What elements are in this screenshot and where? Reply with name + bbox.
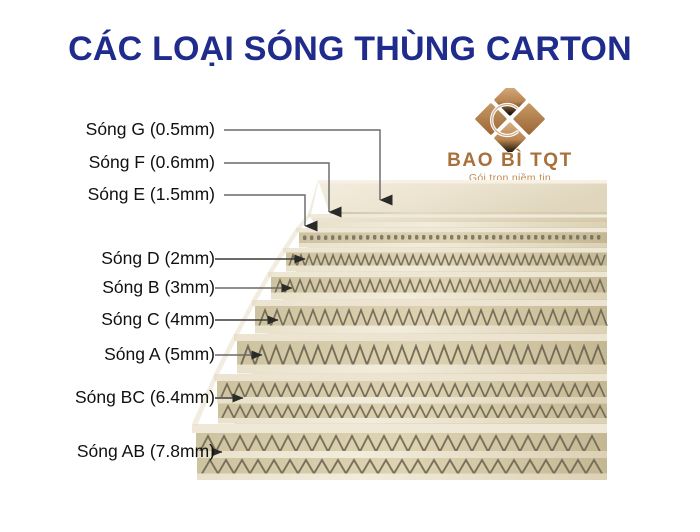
leader-e	[224, 195, 305, 226]
infographic-canvas: CÁC LOẠI SÓNG THÙNG CARTON	[0, 0, 700, 532]
label-song-g: Sóng G (0.5mm)	[86, 121, 215, 139]
label-song-c: Sóng C (4mm)	[101, 311, 215, 329]
label-song-ab: Sóng AB (7.8mm)	[77, 443, 215, 461]
sheet-b	[268, 272, 607, 300]
label-song-d: Sóng D (2mm)	[101, 250, 215, 268]
sheet-bc	[214, 374, 607, 424]
label-song-bc: Sóng BC (6.4mm)	[75, 389, 215, 407]
sheet-g	[318, 180, 607, 216]
label-song-a: Sóng A (5mm)	[104, 346, 215, 364]
sheet-d	[283, 248, 607, 272]
sheet-a	[234, 334, 607, 374]
sheet-f	[308, 214, 607, 228]
cardboard-sheet-stack	[192, 180, 607, 480]
label-song-b: Sóng B (3mm)	[102, 279, 215, 297]
sheet-ab	[192, 424, 607, 480]
label-song-e: Sóng E (1.5mm)	[88, 186, 215, 204]
label-song-f: Sóng F (0.6mm)	[89, 154, 215, 172]
sheet-e	[296, 228, 607, 248]
sheet-c	[252, 300, 607, 334]
